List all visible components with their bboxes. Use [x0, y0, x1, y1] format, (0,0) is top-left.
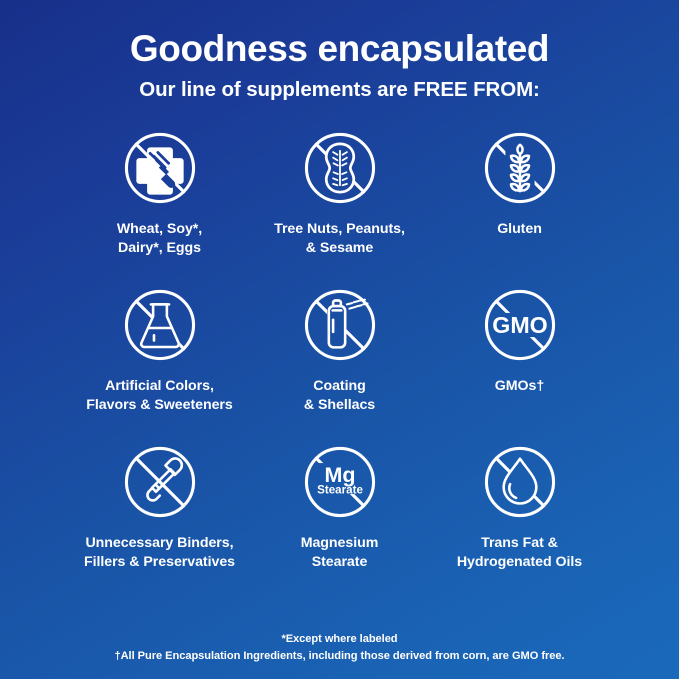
no-gmo-text-icon: GMO — [477, 282, 563, 368]
poster: Goodness encapsulated Our line of supple… — [0, 0, 679, 679]
footnote-dagger: †All Pure Encapsulation Ingredients, inc… — [0, 648, 679, 665]
free-from-item: Mg Stearate Magnesium Stearate — [250, 439, 430, 596]
free-from-item-label: Trans Fat & Hydrogenated Oils — [457, 534, 582, 571]
stearate-icon-text: Stearate — [317, 484, 363, 497]
free-from-item-label: Coating & Shellacs — [304, 377, 375, 414]
free-from-item-label: Tree Nuts, Peanuts, & Sesame — [274, 220, 405, 257]
free-from-item: Artificial Colors, Flavors & Sweeteners — [70, 282, 250, 439]
footnote-asterisk: *Except where labeled — [0, 631, 679, 648]
no-dropper-icon — [117, 439, 203, 525]
header: Goodness encapsulated Our line of supple… — [0, 0, 679, 102]
free-from-item: GMO GMOs† — [430, 282, 610, 439]
page-title: Goodness encapsulated — [0, 28, 679, 69]
footnotes: *Except where labeled †All Pure Encapsul… — [0, 631, 679, 665]
free-from-item: Unnecessary Binders, Fillers & Preservat… — [70, 439, 250, 596]
no-magnesium-stearate-icon: Mg Stearate — [297, 439, 383, 525]
no-wheat-stalk-icon — [477, 125, 563, 211]
no-oil-droplet-icon — [477, 439, 563, 525]
free-from-item: Wheat, Soy*, Dairy*, Eggs — [70, 125, 250, 282]
free-from-item-label: Unnecessary Binders, Fillers & Preservat… — [84, 534, 235, 571]
free-from-item: Gluten — [430, 125, 610, 282]
no-flask-icon — [117, 282, 203, 368]
free-from-item: Coating & Shellacs — [250, 282, 430, 439]
free-from-item: Trans Fat & Hydrogenated Oils — [430, 439, 610, 596]
free-from-item-label: Artificial Colors, Flavors & Sweeteners — [86, 377, 232, 414]
page-subtitle: Our line of supplements are FREE FROM: — [0, 78, 679, 102]
no-allergens-cross-fork-icon — [117, 125, 203, 211]
no-spray-can-icon — [297, 282, 383, 368]
free-from-item: Tree Nuts, Peanuts, & Sesame — [250, 125, 430, 282]
free-from-item-label: GMOs† — [495, 377, 544, 396]
free-from-grid: Wheat, Soy*, Dairy*, Eggs — [70, 125, 610, 596]
free-from-item-label: Magnesium Stearate — [301, 534, 379, 571]
free-from-item-label: Gluten — [497, 220, 542, 239]
no-peanut-icon — [297, 125, 383, 211]
free-from-item-label: Wheat, Soy*, Dairy*, Eggs — [117, 220, 202, 257]
